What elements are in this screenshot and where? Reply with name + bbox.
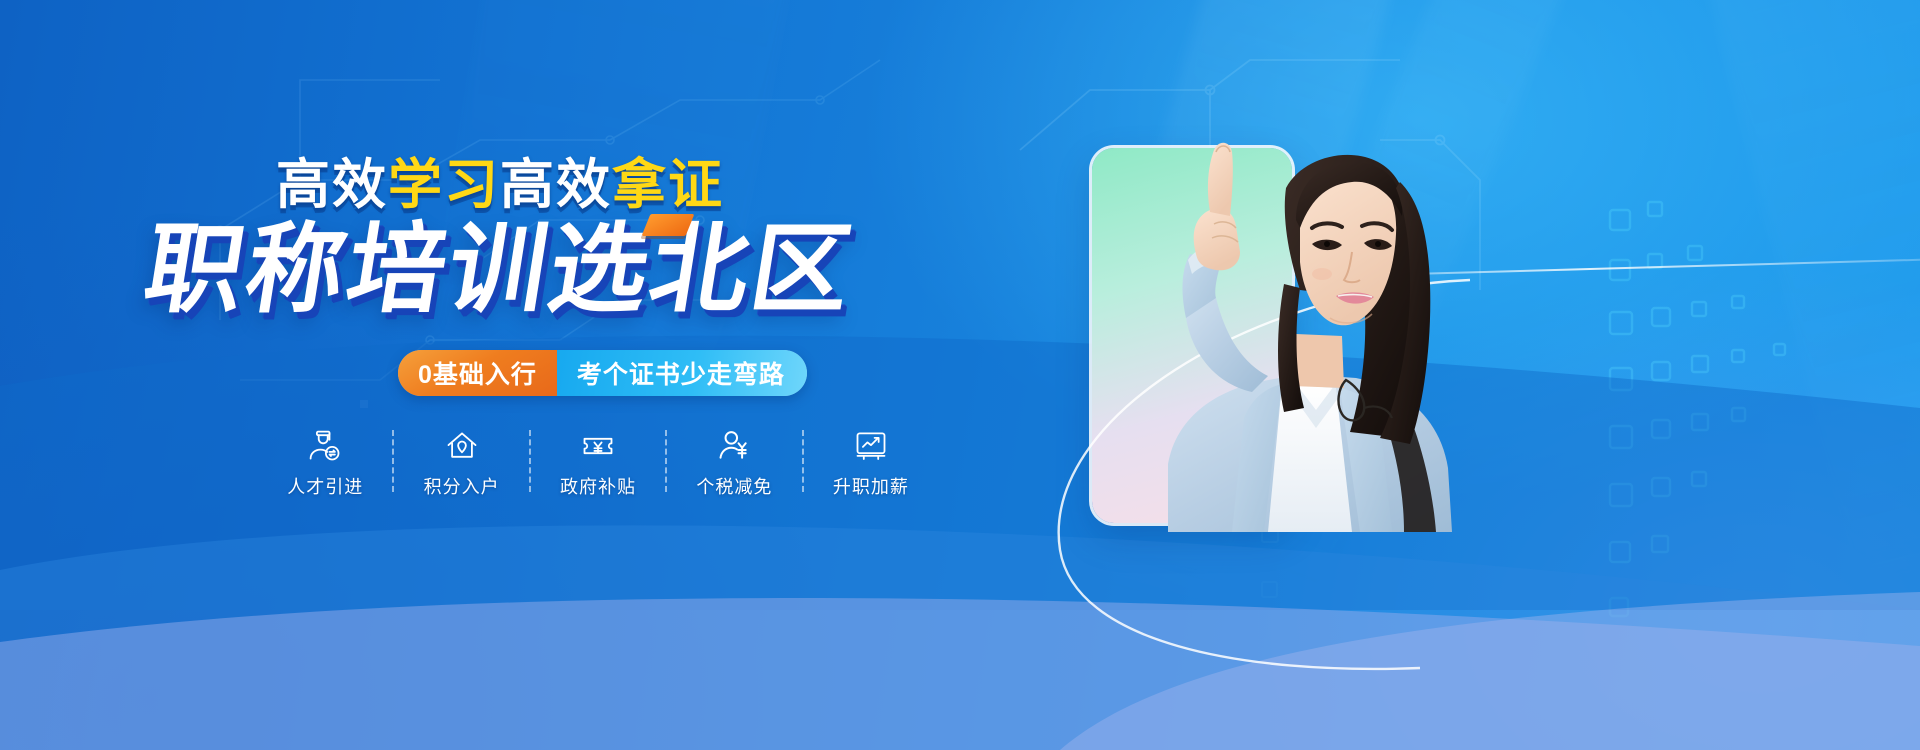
feature-item-government-subsidy[interactable]: 政府补贴: [531, 428, 665, 499]
banner-copy-block: 高效学习高效拿证 职称培训选北区 0基础入行 考个证书少走弯路: [0, 0, 1000, 750]
graduate-person-icon: [307, 428, 343, 464]
promo-banner: 高效学习高效拿证 职称培训选北区 0基础入行 考个证书少走弯路: [0, 0, 1920, 750]
feature-label: 升职加薪: [833, 473, 909, 499]
person-yuan-icon: [716, 428, 752, 464]
feature-label: 人才引进: [287, 473, 363, 499]
headline-seg-1: 高效: [276, 155, 388, 215]
headline-main-wrap: 职称培训选北区: [0, 218, 1000, 321]
feature-item-talent-introduction[interactable]: 人才引进: [258, 428, 392, 499]
growth-chart-board-icon: [853, 428, 889, 464]
feature-label: 个税减免: [696, 473, 772, 499]
badge-secondary-label: 考个证书少走弯路: [557, 350, 807, 396]
feature-label: 政府补贴: [560, 473, 636, 499]
feature-list: 人才引进 积分入户: [258, 428, 938, 518]
feature-item-promotion-raise[interactable]: 升职加薪: [804, 428, 938, 499]
woman-pointing-up-photo: [1000, 92, 1470, 532]
page-title: 职称培训选北区: [138, 218, 861, 321]
orange-accent-mark-icon: [642, 214, 695, 236]
headline-seg-2-highlight: 学习: [388, 155, 500, 215]
feature-label: 积分入户: [424, 473, 500, 499]
coupon-yuan-icon: [580, 428, 616, 464]
badge-primary-label: 0基础入行: [398, 350, 557, 396]
headline-subline: 高效学习高效拿证: [0, 158, 1000, 212]
home-location-pin-icon: [444, 428, 480, 464]
status-badge: 0基础入行 考个证书少走弯路: [398, 350, 807, 396]
feature-item-points-residency[interactable]: 积分入户: [394, 428, 528, 499]
headline-seg-4-highlight: 拿证: [612, 155, 724, 215]
headline-seg-3: 高效: [500, 155, 612, 215]
feature-item-tax-reduction[interactable]: 个税减免: [667, 428, 801, 499]
